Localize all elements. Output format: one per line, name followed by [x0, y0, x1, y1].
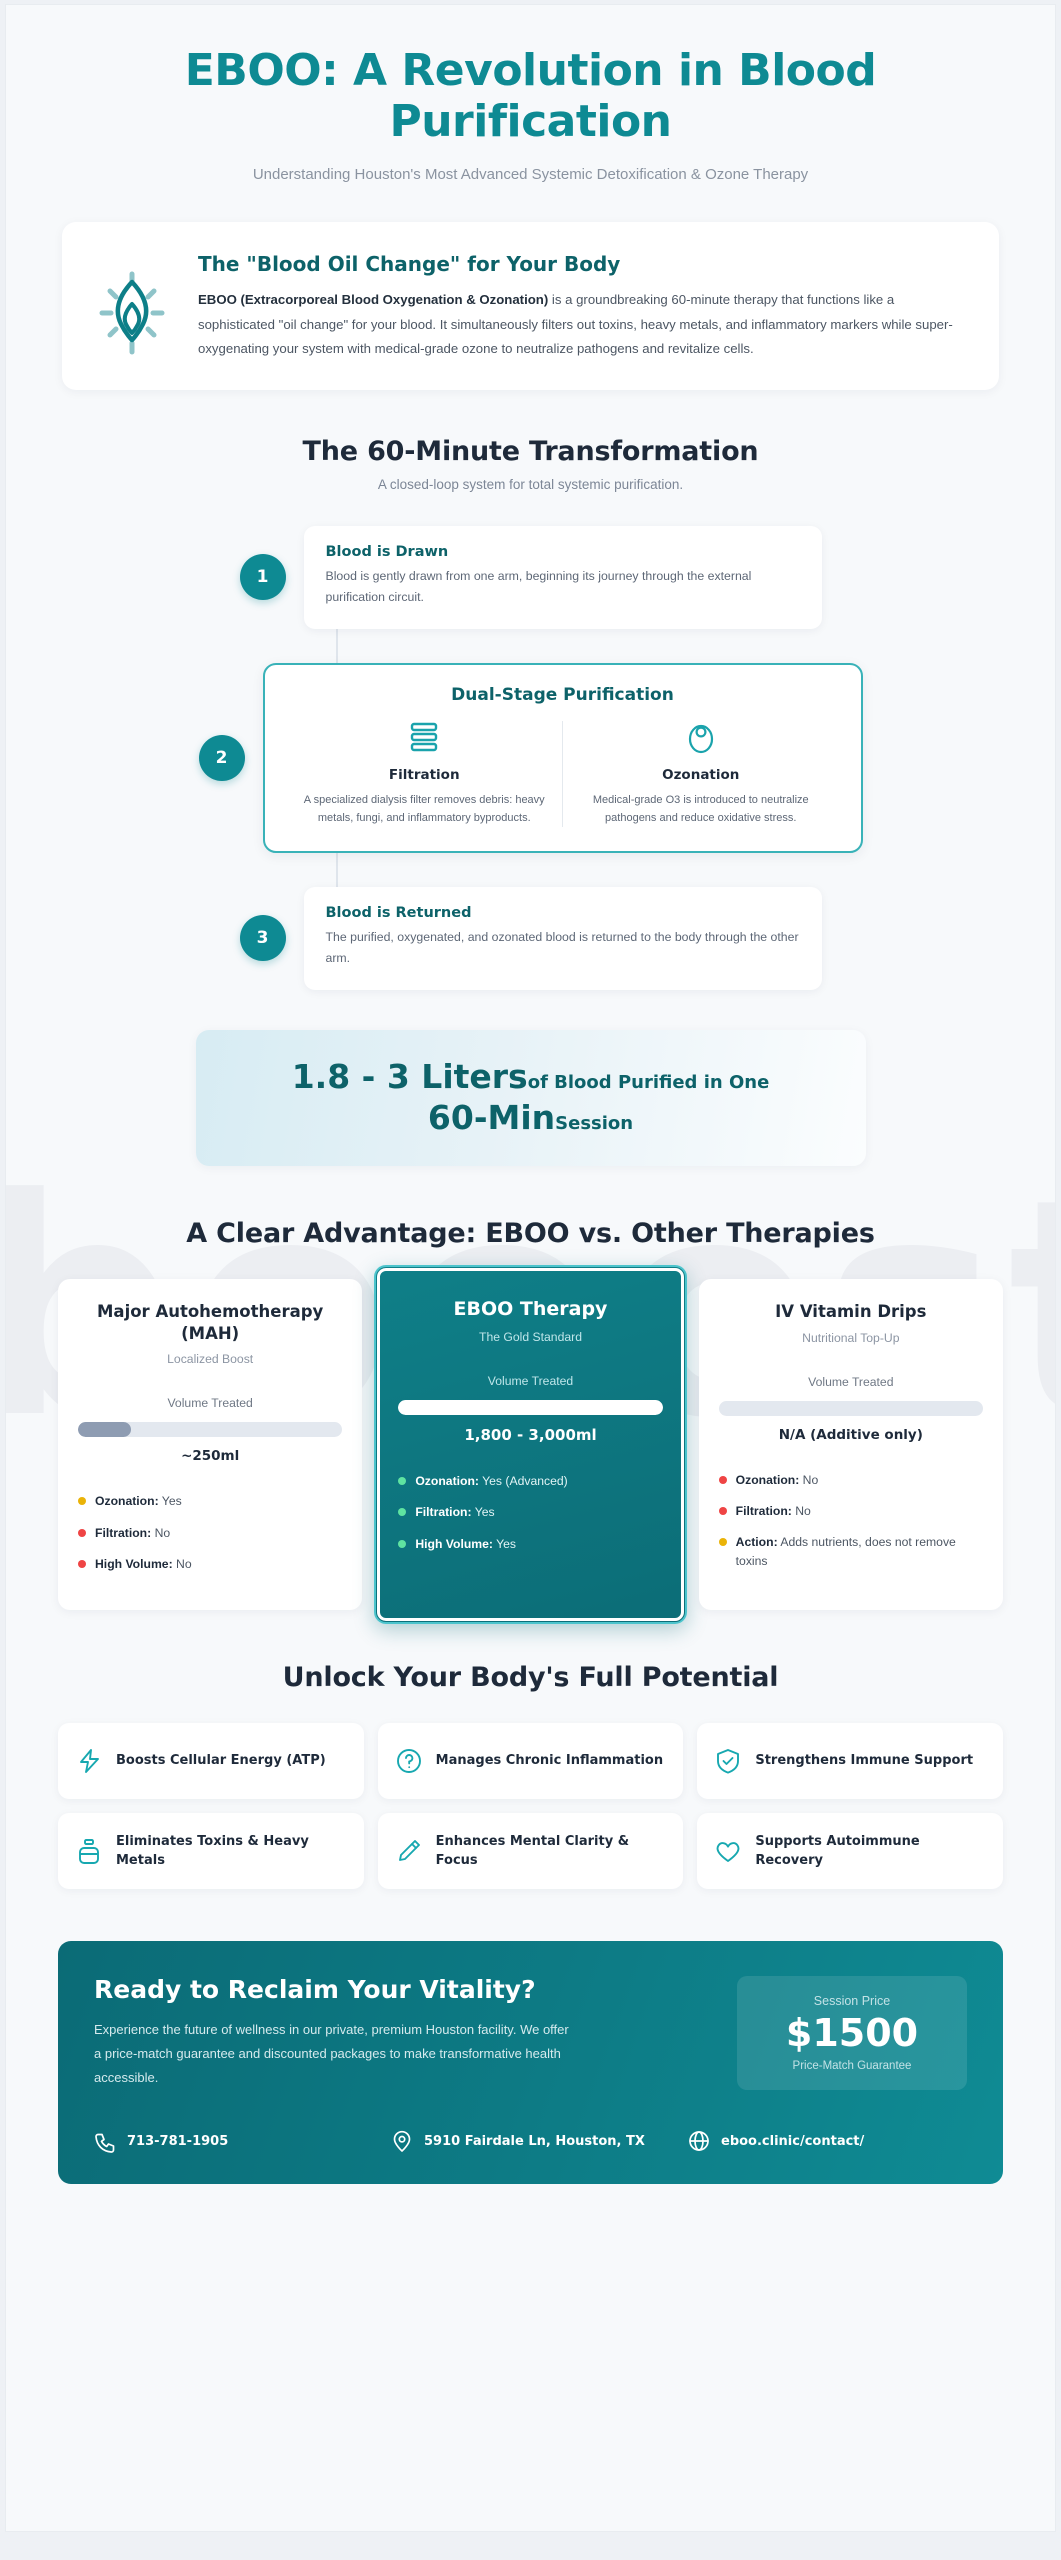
feature-value: No	[792, 1504, 811, 1518]
volume-highlight-line-2: 60-MinSession	[230, 1097, 832, 1138]
feature-value: Yes	[472, 1505, 495, 1519]
volume-bar-track	[398, 1400, 662, 1415]
feature-row: Filtration: No	[719, 1502, 983, 1520]
feature-value: No	[151, 1526, 170, 1540]
benefit-card[interactable]: Boosts Cellular Energy (ATP)	[58, 1723, 364, 1799]
feature-text: Filtration: No	[95, 1524, 170, 1542]
comparison-grid: Major Autohemotherapy (MAH)Localized Boo…	[58, 1279, 1003, 1610]
step-number-badge: 1	[240, 554, 286, 600]
volume-treated-value: 1,800 - 3,000ml	[398, 1426, 662, 1444]
feature-label: Action:	[736, 1535, 778, 1549]
status-dot-icon	[719, 1507, 727, 1515]
comparison-card-tagline: Localized Boost	[78, 1352, 342, 1366]
volume-highlight-big-2: 60-Min	[428, 1098, 555, 1137]
status-dot-icon	[398, 1508, 406, 1516]
process-subheading: A closed-loop system for total systemic …	[6, 477, 1055, 492]
cta-section: Ready to Reclaim Your Vitality? Experien…	[58, 1941, 1003, 2184]
globe-icon	[688, 2130, 710, 2154]
feature-text: Filtration: Yes	[415, 1503, 494, 1521]
benefits-section: Unlock Your Body's Full Potential Boosts…	[6, 1662, 1055, 1889]
volume-bar-fill	[398, 1400, 662, 1415]
dual-stage-left-title: Filtration	[303, 767, 547, 783]
volume-highlight-big-1: 1.8 - 3 Liters	[292, 1057, 528, 1096]
feature-label: Filtration:	[415, 1505, 471, 1519]
cta-heading: Ready to Reclaim Your Vitality?	[94, 1975, 705, 2004]
benefit-label: Enhances Mental Clarity & Focus	[436, 1832, 666, 1871]
step-text: Blood is gently drawn from one arm, begi…	[326, 566, 800, 609]
feature-value: No	[799, 1473, 818, 1487]
feature-text: Ozonation: Yes	[95, 1492, 182, 1510]
step-card: Blood is Drawn Blood is gently drawn fro…	[304, 526, 822, 629]
feature-list: Ozonation: Yes (Advanced)Filtration: Yes…	[398, 1472, 662, 1553]
step-text: The purified, oxygenated, and ozonated b…	[326, 927, 800, 970]
step-title: Blood is Returned	[326, 905, 800, 921]
page-content: EBOO: A Revolution in Blood Purification…	[6, 5, 1055, 2184]
step-card: Blood is Returned The purified, oxygenat…	[304, 887, 822, 990]
hero-section: EBOO: A Revolution in Blood Purification…	[6, 5, 1055, 186]
heart-icon	[715, 1838, 741, 1864]
intro-paragraph: EBOO (Extracorporeal Blood Oxygenation &…	[198, 288, 969, 361]
feature-text: Ozonation: Yes (Advanced)	[415, 1472, 567, 1490]
contact-item[interactable]: eboo.clinic/contact/	[688, 2130, 967, 2154]
feature-value: Yes	[159, 1494, 182, 1508]
benefit-card[interactable]: Eliminates Toxins & Heavy Metals	[58, 1813, 364, 1889]
feature-value: No	[173, 1557, 192, 1571]
status-dot-icon	[398, 1477, 406, 1485]
comparison-card[interactable]: IV Vitamin DripsNutritional Top-UpVolume…	[699, 1279, 1003, 1610]
feature-text: Action: Adds nutrients, does not remove …	[736, 1533, 983, 1570]
feature-text: Ozonation: No	[736, 1471, 819, 1489]
cta-text-block: Ready to Reclaim Your Vitality? Experien…	[94, 1975, 705, 2090]
status-dot-icon	[78, 1529, 86, 1537]
status-dot-icon	[719, 1538, 727, 1546]
step-connector	[336, 853, 338, 887]
price-box: Session Price $1500 Price-Match Guarante…	[737, 1976, 967, 2090]
process-steps: 1 Blood is Drawn Blood is gently drawn f…	[6, 526, 1055, 990]
comparison-heading: A Clear Advantage: EBOO vs. Other Therap…	[6, 1218, 1055, 1249]
process-step-1: 1 Blood is Drawn Blood is gently drawn f…	[6, 526, 1055, 629]
feature-label: Ozonation:	[736, 1473, 800, 1487]
feature-label: Ozonation:	[415, 1474, 479, 1488]
benefit-label: Manages Chronic Inflammation	[436, 1751, 663, 1771]
benefits-grid: Boosts Cellular Energy (ATP)Manages Chro…	[58, 1723, 1003, 1889]
feature-row: Ozonation: Yes (Advanced)	[398, 1472, 662, 1490]
volume-treated-value: ~250ml	[78, 1448, 342, 1464]
volume-bar-track	[719, 1401, 983, 1416]
contact-row: 713-781-19055910 Fairdale Ln, Houston, T…	[94, 2130, 967, 2154]
feature-label: Filtration:	[736, 1504, 792, 1518]
feature-list: Ozonation: YesFiltration: NoHigh Volume:…	[78, 1492, 342, 1573]
benefit-card[interactable]: Strengthens Immune Support	[697, 1723, 1003, 1799]
comparison-card[interactable]: EBOO TherapyThe Gold StandardVolume Trea…	[374, 1265, 686, 1624]
intro-lead: EBOO (Extracorporeal Blood Oxygenation &…	[198, 292, 548, 307]
volume-treated-label: Volume Treated	[78, 1396, 342, 1410]
feature-list: Ozonation: NoFiltration: NoAction: Adds …	[719, 1471, 983, 1570]
comparison-card-name: IV Vitamin Drips	[719, 1301, 983, 1322]
process-step-3: 3 Blood is Returned The purified, oxygen…	[6, 887, 1055, 990]
dual-stage-card: Dual-Stage Purification	[263, 663, 863, 853]
comparison-card-name: Major Autohemotherapy (MAH)	[78, 1301, 342, 1344]
dual-stage-right-title: Ozonation	[579, 767, 823, 783]
dual-stage-grid: Filtration A specialized dialysis filter…	[287, 721, 839, 827]
volume-treated-label: Volume Treated	[398, 1374, 662, 1388]
pencil-icon	[396, 1838, 422, 1864]
feature-row: Filtration: Yes	[398, 1503, 662, 1521]
phone-icon	[94, 2130, 116, 2154]
feature-label: Filtration:	[95, 1526, 151, 1540]
comparison-card[interactable]: Major Autohemotherapy (MAH)Localized Boo…	[58, 1279, 362, 1610]
comparison-card-name: EBOO Therapy	[398, 1297, 662, 1322]
benefit-card[interactable]: Manages Chronic Inflammation	[378, 1723, 684, 1799]
volume-treated-value: N/A (Additive only)	[719, 1427, 983, 1443]
volume-highlight-banner: 1.8 - 3 Litersof Blood Purified in One 6…	[196, 1030, 866, 1167]
benefits-heading: Unlock Your Body's Full Potential	[6, 1662, 1055, 1693]
dual-stage-title: Dual-Stage Purification	[287, 685, 839, 705]
question-circle-icon	[396, 1748, 422, 1774]
intro-title: The "Blood Oil Change" for Your Body	[198, 252, 969, 276]
benefit-label: Boosts Cellular Energy (ATP)	[116, 1751, 326, 1771]
page-title: EBOO: A Revolution in Blood Purification	[66, 45, 995, 147]
feature-row: Filtration: No	[78, 1524, 342, 1542]
benefit-card[interactable]: Supports Autoimmune Recovery	[697, 1813, 1003, 1889]
feature-value: Yes	[493, 1537, 516, 1551]
feature-text: High Volume: No	[95, 1555, 192, 1573]
benefit-label: Supports Autoimmune Recovery	[755, 1832, 985, 1871]
lightning-bolt-icon	[76, 1748, 102, 1774]
comparison-section: A Clear Advantage: EBOO vs. Other Therap…	[6, 1218, 1055, 1610]
feature-value: Yes (Advanced)	[479, 1474, 568, 1488]
contact-item[interactable]: 713-781-1905	[94, 2130, 373, 2154]
process-step-2: 2 Dual-Stage Purification	[6, 663, 1055, 853]
dual-stage-right-text: Medical-grade O3 is introduced to neutra…	[579, 791, 823, 827]
intro-body: The "Blood Oil Change" for Your Body EBO…	[198, 248, 969, 361]
feature-text: Filtration: No	[736, 1502, 811, 1520]
dual-stage-filtration: Filtration A specialized dialysis filter…	[287, 721, 563, 827]
comparison-card-tagline: Nutritional Top-Up	[719, 1331, 983, 1345]
toxin-bottle-icon	[76, 1838, 102, 1864]
price-label: Session Price	[753, 1994, 951, 2008]
process-section: The 60-Minute Transformation A closed-lo…	[6, 436, 1055, 990]
process-heading: The 60-Minute Transformation	[6, 436, 1055, 467]
volume-highlight-small-1: of Blood Purified in One	[528, 1072, 770, 1093]
volume-highlight-line-1: 1.8 - 3 Litersof Blood Purified in One	[230, 1056, 832, 1097]
feature-label: High Volume:	[95, 1557, 173, 1571]
price-note: Price-Match Guarantee	[753, 2060, 951, 2072]
contact-item[interactable]: 5910 Fairdale Ln, Houston, TX	[391, 2130, 670, 2154]
feature-row: High Volume: Yes	[398, 1535, 662, 1553]
feature-row: High Volume: No	[78, 1555, 342, 1573]
cta-top-row: Ready to Reclaim Your Vitality? Experien…	[94, 1975, 967, 2090]
shield-check-icon	[715, 1748, 741, 1774]
volume-treated-label: Volume Treated	[719, 1375, 983, 1389]
dual-stage-ozonation: Ozonation Medical-grade O3 is introduced…	[562, 721, 839, 827]
price-value: $1500	[753, 2010, 951, 2058]
feature-label: Ozonation:	[95, 1494, 159, 1508]
status-dot-icon	[78, 1497, 86, 1505]
ozone-molecule-icon	[579, 721, 823, 755]
feature-row: Ozonation: No	[719, 1471, 983, 1489]
feature-label: High Volume:	[415, 1537, 493, 1551]
contact-text: 5910 Fairdale Ln, Houston, TX	[424, 2133, 645, 2152]
infographic-page: booostin EBOO: A Revolution in Blood Pur…	[5, 4, 1056, 2532]
contact-text: 713-781-1905	[127, 2133, 228, 2152]
page-subtitle: Understanding Houston's Most Advanced Sy…	[141, 163, 921, 186]
comparison-card-tagline: The Gold Standard	[398, 1330, 662, 1344]
benefit-label: Eliminates Toxins & Heavy Metals	[116, 1832, 346, 1871]
volume-highlight-small-2: Session	[555, 1113, 633, 1134]
map-pin-icon	[391, 2130, 413, 2154]
status-dot-icon	[398, 1540, 406, 1548]
intro-card: The "Blood Oil Change" for Your Body EBO…	[62, 222, 999, 389]
step-number-badge: 3	[240, 915, 286, 961]
status-dot-icon	[719, 1476, 727, 1484]
benefit-label: Strengthens Immune Support	[755, 1751, 973, 1771]
status-dot-icon	[78, 1560, 86, 1568]
step-number-badge: 2	[199, 735, 245, 781]
feature-text: High Volume: Yes	[415, 1535, 516, 1553]
feature-row: Ozonation: Yes	[78, 1492, 342, 1510]
volume-bar-track	[78, 1422, 342, 1437]
contact-text: eboo.clinic/contact/	[721, 2133, 864, 2152]
cta-paragraph: Experience the future of wellness in our…	[94, 2018, 574, 2090]
volume-bar-fill	[78, 1422, 131, 1437]
blood-drop-sun-icon	[92, 248, 172, 356]
step-title: Blood is Drawn	[326, 544, 800, 560]
dual-stage-left-text: A specialized dialysis filter removes de…	[303, 791, 547, 827]
benefit-card[interactable]: Enhances Mental Clarity & Focus	[378, 1813, 684, 1889]
step-connector	[336, 629, 338, 663]
filter-stack-icon	[303, 721, 547, 755]
feature-row: Action: Adds nutrients, does not remove …	[719, 1533, 983, 1570]
